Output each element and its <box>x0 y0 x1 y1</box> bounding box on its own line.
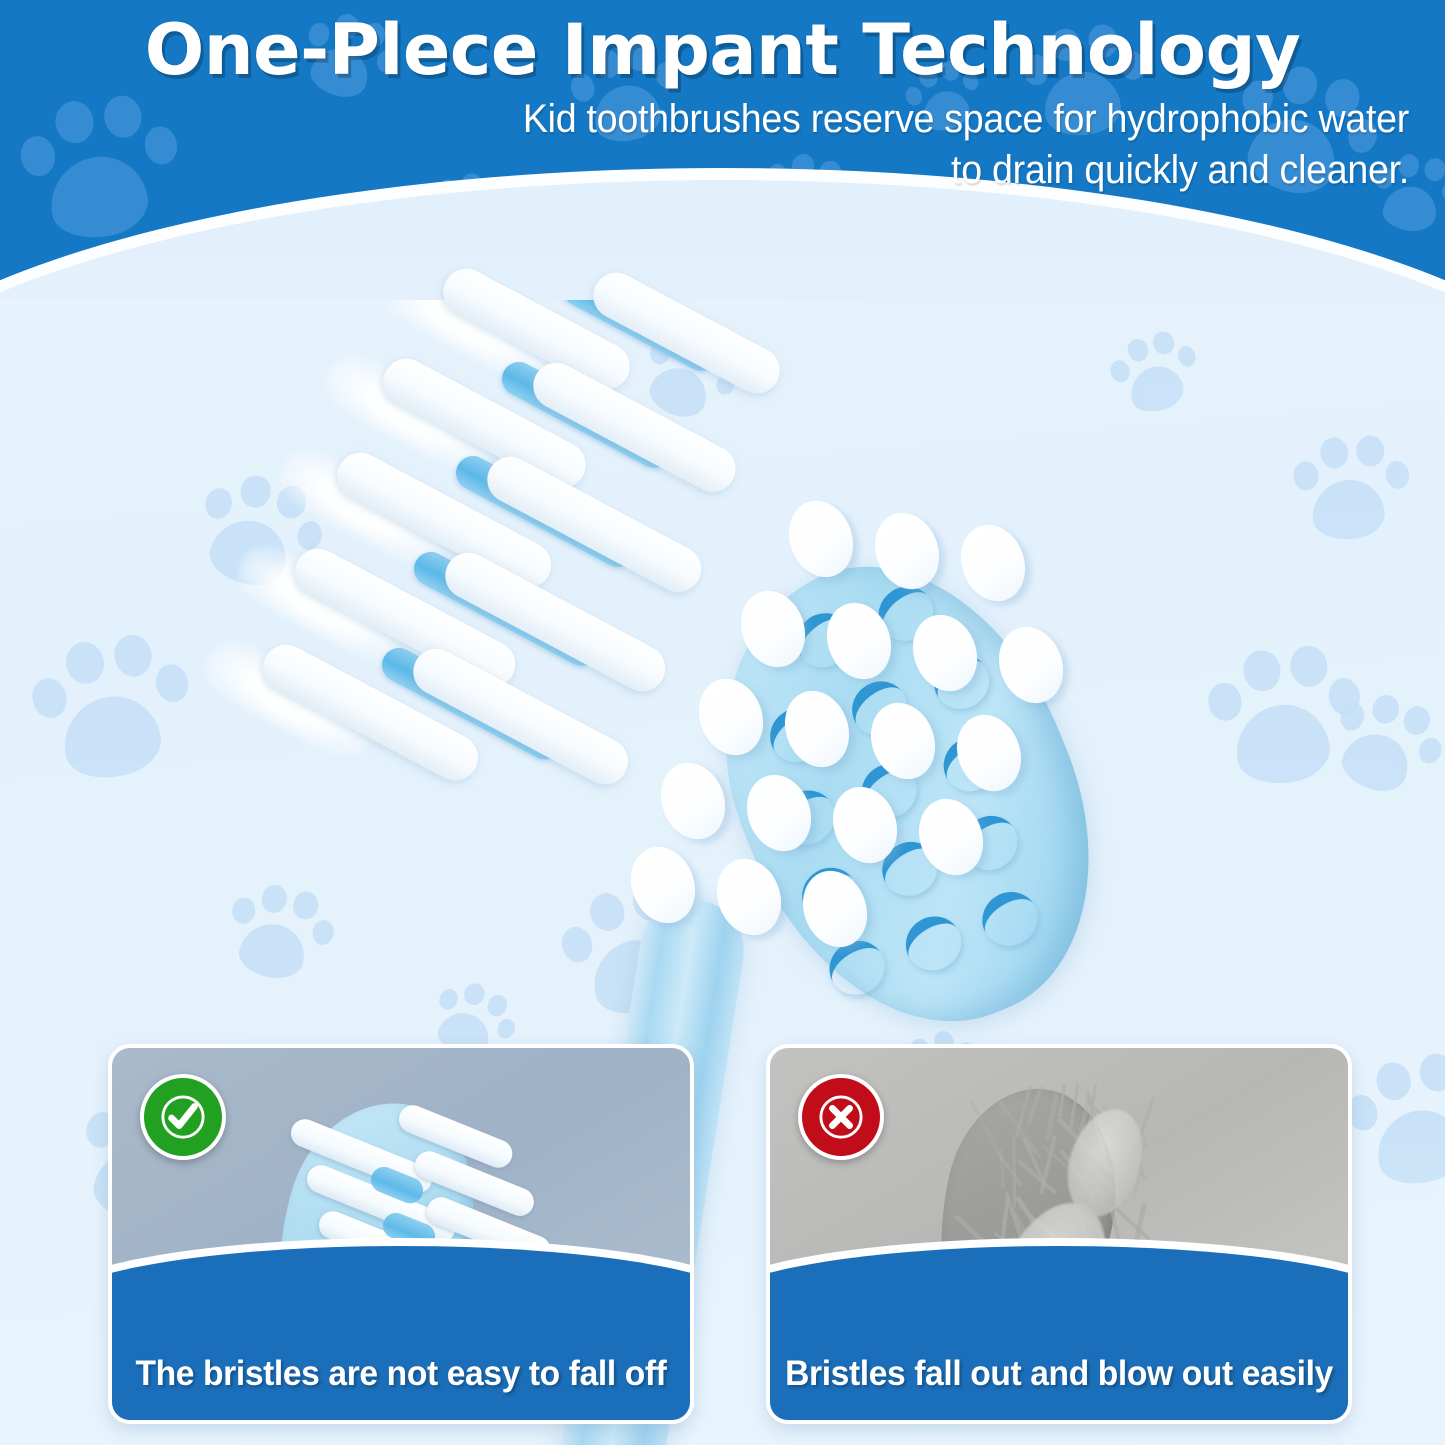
water-droplet <box>909 790 994 885</box>
bad-caption-bar: Bristles fall out and blow out easily <box>770 1294 1348 1420</box>
bad-caption-text: Bristles fall out and blow out easily <box>782 1354 1337 1394</box>
check-icon <box>140 1074 226 1160</box>
page-title: One-Plece Impant Technology <box>36 0 1409 88</box>
page-subtitle: Kid toothbrushes reserve space for hydro… <box>118 94 1409 196</box>
caption-curve-fill <box>108 1246 694 1366</box>
water-droplet <box>951 516 1036 611</box>
water-droplet <box>903 606 988 701</box>
water-droplet <box>861 694 946 789</box>
water-droplet <box>823 778 908 873</box>
cross-glyph <box>818 1094 864 1140</box>
comparison-panel-bad[interactable]: Bristles fall out and blow out easily <box>766 1044 1352 1424</box>
water-droplet <box>865 504 950 599</box>
check-glyph <box>160 1094 206 1140</box>
comparison-panel-good[interactable]: The bristles are not easy to fall off <box>108 1044 694 1424</box>
subtitle-line-1: Kid toothbrushes reserve space for hydro… <box>523 97 1409 141</box>
bristle-tufts <box>250 250 810 810</box>
header-content: One-Plece Impant Technology Kid toothbru… <box>0 0 1445 196</box>
good-caption-bar: The bristles are not easy to fall off <box>112 1294 690 1420</box>
good-caption-text: The bristles are not easy to fall off <box>124 1354 679 1394</box>
header-banner: One-Plece Impant Technology Kid toothbru… <box>0 0 1445 300</box>
subtitle-line-2: to drain quickly and cleaner. <box>951 148 1409 192</box>
water-droplet <box>817 594 902 689</box>
water-droplet <box>621 838 706 933</box>
water-droplet <box>793 862 878 957</box>
cross-icon <box>798 1074 884 1160</box>
product-infographic: The bristles are not easy to fall off Br… <box>0 0 1445 1445</box>
caption-curve-fill <box>766 1246 1352 1366</box>
water-droplet <box>989 618 1074 713</box>
water-droplet <box>947 706 1032 801</box>
water-droplet <box>707 850 792 945</box>
